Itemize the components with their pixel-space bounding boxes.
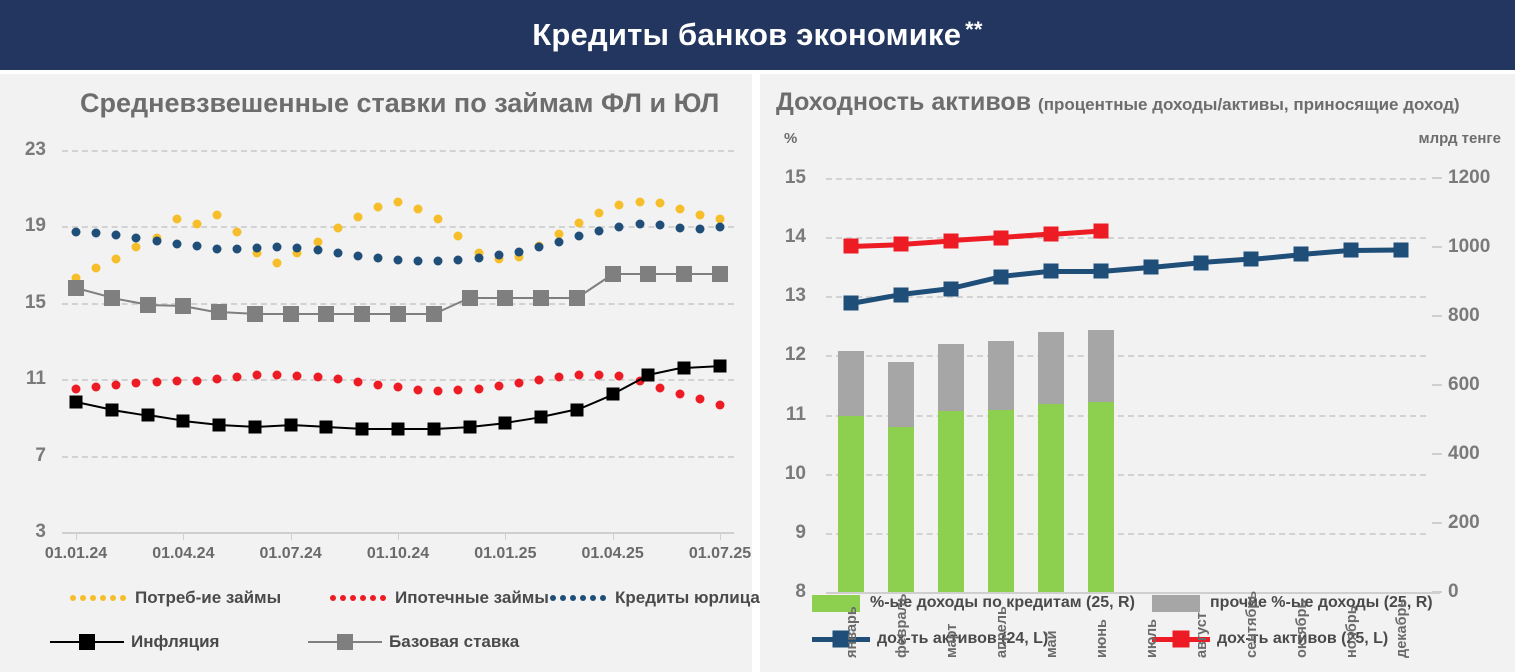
gridline — [826, 296, 1426, 298]
data-point — [112, 254, 121, 263]
x-axis-tick-label: 01.01.25 — [474, 545, 536, 563]
data-point — [92, 229, 101, 238]
legend-dot — [350, 595, 356, 601]
x-axis-month-label: февраль — [894, 593, 910, 658]
data-point — [313, 246, 322, 255]
legend-item-label: Ипотечные займы — [395, 588, 549, 608]
legend-line-key — [50, 635, 124, 649]
x-axis-month-label: май — [1044, 630, 1060, 658]
data-point — [534, 243, 543, 252]
left-y-axis-tick-label: 15 — [760, 167, 806, 189]
legend-item-2: Ипотечные займы — [330, 588, 549, 608]
legend-item-label: Потреб-ие займы — [135, 588, 281, 608]
data-point — [172, 377, 181, 386]
data-point — [394, 255, 403, 264]
data-point — [353, 378, 362, 387]
data-point — [615, 223, 624, 232]
data-point — [132, 379, 141, 388]
legend-item-label: Базовая ставка — [389, 632, 519, 652]
bar-credit-income — [988, 410, 1014, 592]
data-point — [172, 214, 181, 223]
data-point-marker — [105, 403, 118, 416]
data-point — [132, 233, 141, 242]
data-point — [192, 377, 201, 386]
bar-credit-income — [938, 411, 964, 592]
data-point — [273, 258, 282, 267]
data-point — [595, 209, 604, 218]
asset-yield-title-sub: (процентные доходы/активы, приносящие до… — [1038, 95, 1460, 114]
data-point-marker — [140, 297, 156, 313]
right-y-axis-tick-label: 800 — [1448, 305, 1515, 327]
data-point-marker — [676, 266, 692, 282]
asset-yield-chart-title: Доходность активов (процентные доходы/ак… — [776, 88, 1460, 117]
right-axis-tickmark — [1432, 246, 1442, 248]
data-point — [92, 264, 101, 273]
x-axis-month-label: апрель — [994, 606, 1010, 658]
data-point — [595, 227, 604, 236]
data-point-marker — [426, 306, 442, 322]
data-point-marker — [211, 304, 227, 320]
data-point-marker — [844, 239, 859, 254]
data-point — [434, 256, 443, 265]
legend-dot — [550, 595, 556, 601]
x-axis-tickmark — [398, 532, 399, 540]
data-point-marker — [284, 419, 297, 432]
data-point-marker — [392, 422, 405, 435]
data-point-marker — [714, 359, 727, 372]
data-point — [273, 371, 282, 380]
data-point-marker — [463, 420, 476, 433]
data-point — [353, 212, 362, 221]
data-point — [212, 375, 221, 384]
right-axis-tickmark — [1432, 522, 1442, 524]
legend-dot — [90, 595, 96, 601]
data-point — [695, 210, 704, 219]
data-point — [675, 224, 684, 233]
y-axis-tick-label: 11 — [0, 368, 46, 390]
x-axis-tick-label: 01.01.24 — [45, 545, 107, 563]
bar-other-income — [838, 351, 864, 416]
x-axis-month-label: декабрь — [1394, 599, 1410, 658]
data-point-marker — [944, 233, 959, 248]
right-axis-unit: млрд тенге — [1419, 130, 1501, 147]
legend-item-5: Базовая ставка — [308, 632, 519, 652]
data-point-marker — [356, 422, 369, 435]
legend-item-label: Инфляция — [131, 632, 219, 652]
legend-marker — [337, 634, 353, 650]
y-axis-tick-label: 19 — [0, 215, 46, 237]
data-point — [72, 228, 81, 237]
legend-dot — [70, 595, 76, 601]
legend-marker — [1173, 631, 1190, 648]
rates-chart-title: Средневзвешенные ставки по займам ФЛ и Ю… — [80, 88, 719, 119]
data-point — [575, 371, 584, 380]
data-point — [655, 199, 664, 208]
data-point-marker — [320, 420, 333, 433]
legend-dot — [380, 595, 386, 601]
data-point — [615, 201, 624, 210]
legend-dot — [110, 595, 116, 601]
data-point-marker — [177, 415, 190, 428]
legend-dots-key — [550, 595, 606, 601]
left-y-axis-tick-label: 8 — [760, 581, 806, 603]
data-point — [373, 253, 382, 262]
bar-other-income — [888, 362, 914, 428]
data-point — [514, 379, 523, 388]
gridline — [62, 150, 734, 152]
gridline — [826, 178, 1426, 180]
data-point — [293, 372, 302, 381]
data-point — [233, 245, 242, 254]
data-point-marker — [994, 230, 1009, 245]
legend-item-3: Кредиты юрлицам — [550, 588, 772, 608]
data-point-marker — [642, 369, 655, 382]
bar-credit-income — [1088, 402, 1114, 592]
data-point-marker — [497, 290, 513, 306]
x-axis-month-label: март — [944, 624, 960, 658]
data-point — [494, 381, 503, 390]
data-point — [434, 214, 443, 223]
legend-dot — [100, 595, 106, 601]
data-point — [635, 220, 644, 229]
x-axis-month-label: январь — [844, 606, 860, 658]
data-point — [534, 376, 543, 385]
legend-item-4: Инфляция — [50, 632, 219, 652]
right-y-axis-tick-label: 200 — [1448, 512, 1515, 534]
header-bar: Кредиты банков экономике** — [0, 0, 1515, 70]
data-point — [414, 256, 423, 265]
asset-yield-title-main: Доходность активов — [776, 88, 1031, 116]
right-axis-tickmark — [1432, 177, 1442, 179]
data-point — [695, 395, 704, 404]
left-y-axis-tick-label: 9 — [760, 522, 806, 544]
left-y-axis-tick-label: 12 — [760, 344, 806, 366]
x-axis-tick-label: 01.04.24 — [152, 545, 214, 563]
data-point-marker — [1294, 247, 1309, 262]
data-point — [575, 231, 584, 240]
data-point — [695, 225, 704, 234]
x-axis-tickmark — [183, 532, 184, 540]
data-point-marker — [141, 409, 154, 422]
bar-other-income — [988, 341, 1014, 410]
legend-swatch — [1152, 595, 1200, 612]
x-axis-month-label: октябрь — [1294, 600, 1310, 658]
x-axis-tick-label: 01.04.25 — [582, 545, 644, 563]
legend-marker — [79, 634, 95, 650]
data-point-marker — [354, 306, 370, 322]
data-point-marker — [70, 396, 83, 409]
legend-dots-key — [70, 595, 126, 601]
data-point-marker — [944, 281, 959, 296]
x-axis-tick-label: 01.07.25 — [689, 545, 751, 563]
data-point-marker — [248, 420, 261, 433]
legend-dot — [330, 595, 336, 601]
x-axis-month-label: июль — [1144, 619, 1160, 658]
data-point — [233, 228, 242, 237]
data-point — [212, 245, 221, 254]
legend-item-label: Кредиты юрлицам — [615, 588, 772, 608]
data-point — [716, 223, 725, 232]
left-y-axis-tick-label: 11 — [760, 404, 806, 426]
data-point — [233, 373, 242, 382]
infographic-page: Кредиты банков экономике** Средневзвешен… — [0, 0, 1515, 672]
data-point-marker — [390, 306, 406, 322]
gridline — [62, 226, 734, 228]
data-point — [675, 205, 684, 214]
x-axis-tickmark — [76, 532, 77, 540]
y-axis-tick-label: 7 — [0, 445, 46, 467]
data-point — [152, 236, 161, 245]
data-point-marker — [535, 411, 548, 424]
data-point — [253, 371, 262, 380]
x-axis-tick-label: 01.07.24 — [260, 545, 322, 563]
data-point-marker — [712, 266, 728, 282]
data-point — [655, 221, 664, 230]
data-point — [132, 243, 141, 252]
legend-item-1: %-ые доходы по кредитам (25, R) — [812, 594, 1135, 612]
data-point-marker — [894, 287, 909, 302]
data-point — [152, 378, 161, 387]
data-point-marker — [606, 388, 619, 401]
bar-other-income — [1088, 330, 1114, 402]
data-point — [293, 244, 302, 253]
bar-credit-income — [888, 427, 914, 592]
data-point-marker — [1044, 227, 1059, 242]
x-axis-month-label: июнь — [1094, 619, 1110, 658]
data-point — [333, 249, 342, 258]
panel-rates: Средневзвешенные ставки по займам ФЛ и Ю… — [0, 74, 752, 672]
data-point-marker — [68, 280, 84, 296]
data-point — [353, 252, 362, 261]
data-point-marker — [844, 296, 859, 311]
legend-item-2: прочие %-ые доходы (25, R) — [1152, 594, 1433, 612]
left-axis-unit: % — [784, 130, 797, 147]
asset-yield-plot-area: 89101112131415020040060080010001200 — [826, 178, 1426, 592]
right-y-axis-tick-label: 1000 — [1448, 236, 1515, 258]
data-point — [414, 205, 423, 214]
data-point — [474, 253, 483, 262]
data-point-marker — [1394, 242, 1409, 257]
data-point — [212, 210, 221, 219]
panel-asset-yield: Доходность активов (процентные доходы/ак… — [760, 74, 1515, 672]
gridline — [826, 415, 1426, 417]
legend-dot — [600, 595, 606, 601]
data-point — [192, 220, 201, 229]
data-point-marker — [175, 298, 191, 314]
right-axis-tickmark — [1432, 315, 1442, 317]
data-point-marker — [1344, 243, 1359, 258]
data-point-marker — [1094, 264, 1109, 279]
data-point — [555, 373, 564, 382]
data-point — [474, 384, 483, 393]
data-point — [394, 197, 403, 206]
data-point — [373, 380, 382, 389]
data-point — [675, 389, 684, 398]
x-axis-tickmark — [720, 532, 721, 540]
data-point — [716, 400, 725, 409]
data-point — [172, 239, 181, 248]
legend-dot — [360, 595, 366, 601]
data-point-marker — [104, 290, 120, 306]
gridline — [826, 237, 1426, 239]
data-point — [72, 384, 81, 393]
x-axis-month-label: август — [1194, 612, 1210, 658]
data-point — [333, 375, 342, 384]
data-point-marker — [894, 237, 909, 252]
right-y-axis-tick-label: 600 — [1448, 374, 1515, 396]
legend-dot — [560, 595, 566, 601]
left-y-axis-tick-label: 10 — [760, 463, 806, 485]
x-axis-month-label: сентябрь — [1244, 591, 1260, 658]
bar-credit-income — [838, 416, 864, 592]
left-y-axis-tick-label: 14 — [760, 226, 806, 248]
data-point — [373, 203, 382, 212]
legend-dot — [80, 595, 86, 601]
legend-dot — [570, 595, 576, 601]
legend-dot — [580, 595, 586, 601]
data-point — [494, 251, 503, 260]
right-y-axis-tick-label: 1200 — [1448, 167, 1515, 189]
right-y-axis-tick-label: 400 — [1448, 443, 1515, 465]
right-axis-tickmark — [1432, 453, 1442, 455]
data-point — [92, 382, 101, 391]
data-point — [414, 385, 423, 394]
data-point — [394, 382, 403, 391]
data-point-marker — [213, 419, 226, 432]
data-point-marker — [640, 266, 656, 282]
rates-plot-area: 371115192301.01.2401.04.2401.07.2401.10.… — [62, 150, 734, 532]
data-point-marker — [499, 417, 512, 430]
rates-legend: Потреб-ие займыИпотечные займыКредиты юр… — [30, 588, 730, 670]
data-point — [655, 383, 664, 392]
data-point-marker — [427, 422, 440, 435]
gridline — [826, 474, 1426, 476]
data-point — [454, 231, 463, 240]
data-point-marker — [1144, 260, 1159, 275]
bar-credit-income — [1038, 404, 1064, 592]
page-title: Кредиты банков экономике** — [532, 17, 982, 53]
x-axis-tick-label: 01.10.24 — [367, 545, 429, 563]
data-point-marker — [605, 266, 621, 282]
data-point — [635, 197, 644, 206]
data-point-marker — [569, 290, 585, 306]
data-point-marker — [1044, 264, 1059, 279]
data-point — [514, 248, 523, 257]
data-point — [454, 385, 463, 394]
x-axis-tickmark — [613, 532, 614, 540]
left-y-axis-tick-label: 13 — [760, 285, 806, 307]
data-point — [313, 373, 322, 382]
data-point — [555, 237, 564, 246]
legend-dot — [120, 595, 126, 601]
data-point — [192, 242, 201, 251]
data-point-marker — [283, 306, 299, 322]
x-axis-month-label: ноябрь — [1344, 605, 1360, 658]
data-point — [434, 386, 443, 395]
y-axis-tick-label: 15 — [0, 292, 46, 314]
y-axis-tick-label: 23 — [0, 139, 46, 161]
legend-dots-key — [330, 595, 386, 601]
gridline — [826, 533, 1426, 535]
title-footnote-marker: ** — [965, 17, 983, 42]
y-axis-tick-label: 3 — [0, 521, 46, 543]
data-point-marker — [247, 306, 263, 322]
legend-dot — [370, 595, 376, 601]
data-point-marker — [318, 306, 334, 322]
data-point — [112, 230, 121, 239]
data-point — [615, 372, 624, 381]
legend-dot — [590, 595, 596, 601]
page-title-text: Кредиты банков экономике — [532, 17, 961, 52]
data-point — [333, 224, 342, 233]
legend-dot — [340, 595, 346, 601]
x-axis-tickmark — [505, 532, 506, 540]
legend-line-key — [308, 635, 382, 649]
data-point-marker — [1094, 223, 1109, 238]
data-point-marker — [994, 269, 1009, 284]
data-point — [112, 380, 121, 389]
data-point-marker — [678, 361, 691, 374]
data-point — [575, 218, 584, 227]
bar-other-income — [938, 344, 964, 411]
gridline — [62, 456, 734, 458]
legend-line-key — [812, 632, 870, 646]
data-point — [253, 244, 262, 253]
data-point-marker — [1194, 255, 1209, 270]
x-axis-tickmark — [291, 532, 292, 540]
legend-item-1: Потреб-ие займы — [70, 588, 281, 608]
data-point-marker — [570, 403, 583, 416]
data-point — [595, 371, 604, 380]
data-point-marker — [533, 290, 549, 306]
data-point — [273, 243, 282, 252]
data-point — [454, 255, 463, 264]
data-point-marker — [1244, 252, 1259, 267]
right-axis-tickmark — [1432, 384, 1442, 386]
data-point-marker — [462, 290, 478, 306]
bar-other-income — [1038, 332, 1064, 404]
gridline — [826, 355, 1426, 357]
